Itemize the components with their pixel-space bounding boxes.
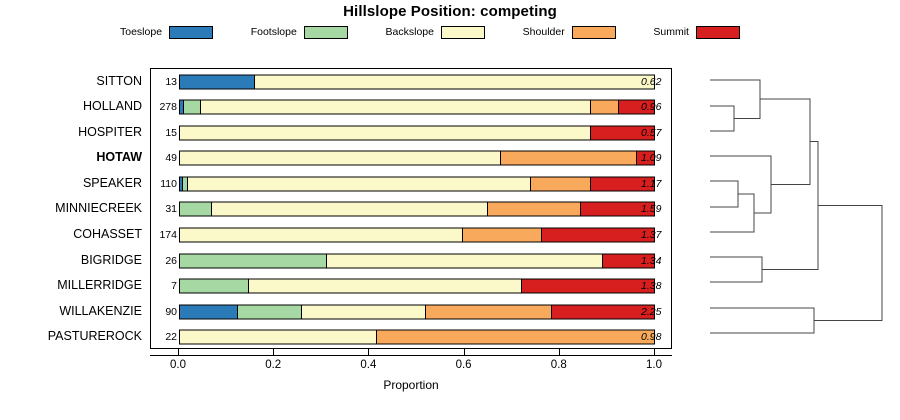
legend-swatch-footslope: [304, 26, 348, 39]
chart-row: 71.38: [151, 273, 671, 299]
stacked-bar-rows: 130.622780.96150.57491.091101.17311.5917…: [151, 69, 671, 348]
stacked-bar[interactable]: [179, 253, 655, 268]
stacked-bar[interactable]: [179, 228, 655, 243]
x-axis-tick: [178, 349, 179, 356]
stacked-bar[interactable]: [179, 304, 655, 319]
stacked-bar[interactable]: [179, 202, 655, 217]
chart-row: 491.09: [151, 146, 671, 172]
stacked-bar[interactable]: [179, 279, 655, 294]
bar-segment-shoulder[interactable]: [591, 101, 619, 114]
row-count-n: 7: [151, 273, 179, 299]
bar-segment-backslope[interactable]: [249, 280, 522, 293]
y-axis-labels: SITTONHOLLANDHOSPITERHOTAWSPEAKERMINNIEC…: [0, 68, 147, 349]
row-diversity-h: 2.25: [637, 299, 671, 325]
legend-item-shoulder[interactable]: Shoulder: [523, 26, 616, 39]
legend-swatch-shoulder: [572, 26, 616, 39]
stacked-bar[interactable]: [179, 330, 655, 345]
legend-item-toeslope[interactable]: Toeslope: [120, 26, 213, 39]
bar-segment-backslope[interactable]: [212, 203, 488, 216]
x-axis-tick-label: 1.0: [646, 359, 662, 371]
legend-item-label: Footslope: [251, 26, 297, 38]
bar-segment-backslope[interactable]: [180, 152, 501, 165]
x-axis-tick: [273, 349, 274, 356]
row-diversity-h: 0.96: [637, 95, 671, 121]
y-axis-label-pasturerock: PASTUREROCK: [48, 323, 142, 349]
x-axis-title: Proportion: [150, 378, 672, 392]
legend-item-label: Toeslope: [120, 26, 162, 38]
page-title: Hillslope Position: competing: [0, 3, 900, 20]
y-axis-label-sitton: SITTON: [96, 68, 142, 94]
row-diversity-h: 1.34: [637, 248, 671, 274]
row-count-n: 174: [151, 222, 179, 248]
bar-segment-backslope[interactable]: [327, 254, 603, 267]
x-axis-line: [150, 355, 672, 356]
x-axis-tick: [559, 349, 560, 356]
stacked-bar[interactable]: [179, 176, 655, 191]
row-count-n: 26: [151, 248, 179, 274]
dendrogram-svg: [690, 68, 895, 349]
row-diversity-h: 1.09: [637, 146, 671, 172]
bar-segment-backslope[interactable]: [180, 331, 377, 344]
bar-segment-backslope[interactable]: [180, 229, 463, 242]
bar-segment-shoulder[interactable]: [463, 229, 541, 242]
row-diversity-h: 1.59: [637, 197, 671, 223]
row-diversity-h: 0.57: [637, 120, 671, 146]
y-axis-label-millerridge: MILLERRIDGE: [57, 272, 142, 298]
y-axis-label-holland: HOLLAND: [83, 94, 142, 120]
row-count-n: 278: [151, 95, 179, 121]
legend-item-label: Backslope: [386, 26, 434, 38]
y-axis-label-minniecreek: MINNIECREEK: [55, 196, 142, 222]
chart-row: 1741.37: [151, 222, 671, 248]
x-axis-tick-label: 0.4: [360, 359, 376, 371]
stacked-bar[interactable]: [179, 125, 655, 140]
y-axis-label-hotaw: HOTAW: [96, 145, 142, 171]
chart-row: 1101.17: [151, 171, 671, 197]
row-diversity-h: 1.17: [637, 171, 671, 197]
legend-swatch-backslope: [441, 26, 485, 39]
x-axis-tick-label: 0.2: [265, 359, 281, 371]
x-axis-tick: [654, 349, 655, 356]
bar-segment-backslope[interactable]: [255, 75, 654, 88]
row-count-n: 110: [151, 171, 179, 197]
legend: ToeslopeFootslopeBackslopeShoulderSummit: [120, 22, 740, 42]
chart-row: 311.59: [151, 197, 671, 223]
chart-row: 220.98: [151, 324, 671, 350]
bar-segment-summit[interactable]: [522, 280, 654, 293]
y-axis-label-cohasset: COHASSET: [73, 221, 142, 247]
bar-segment-footslope[interactable]: [238, 305, 302, 318]
legend-item-summit[interactable]: Summit: [653, 26, 740, 39]
legend-swatch-summit: [696, 26, 740, 39]
bar-segment-footslope[interactable]: [184, 101, 201, 114]
row-count-n: 13: [151, 69, 179, 95]
x-axis-tick-label: 0.0: [170, 359, 186, 371]
row-diversity-h: 0.98: [637, 324, 671, 350]
row-count-n: 31: [151, 197, 179, 223]
bar-segment-footslope[interactable]: [180, 254, 327, 267]
legend-item-label: Summit: [653, 26, 689, 38]
bar-segment-shoulder[interactable]: [501, 152, 638, 165]
row-diversity-h: 1.38: [637, 273, 671, 299]
bar-segment-footslope[interactable]: [180, 203, 212, 216]
plot-stage: Hillslope Position: competing ToeslopeFo…: [0, 0, 900, 420]
chart-row: 130.62: [151, 69, 671, 95]
stacked-bar[interactable]: [179, 100, 655, 115]
bar-segment-shoulder[interactable]: [488, 203, 581, 216]
bar-segment-shoulder[interactable]: [531, 177, 592, 190]
y-axis-label-hospiter: HOSPITER: [78, 119, 142, 145]
row-count-n: 15: [151, 120, 179, 146]
x-axis-tick-label: 0.6: [456, 359, 472, 371]
bar-segment-toeslope[interactable]: [180, 305, 238, 318]
bar-segment-backslope[interactable]: [180, 126, 591, 139]
x-axis-tick: [464, 349, 465, 356]
chart-row: 261.34: [151, 248, 671, 274]
stacked-bar[interactable]: [179, 74, 655, 89]
x-axis-tick-label: 0.8: [551, 359, 567, 371]
bar-segment-backslope[interactable]: [302, 305, 426, 318]
chart-row: 150.57: [151, 120, 671, 146]
legend-item-footslope[interactable]: Footslope: [251, 26, 348, 39]
row-count-n: 90: [151, 299, 179, 325]
legend-item-label: Shoulder: [523, 26, 565, 38]
dendrogram: [690, 68, 895, 349]
legend-item-backslope[interactable]: Backslope: [386, 26, 485, 39]
chart-row: 902.25: [151, 299, 671, 325]
bar-segment-backslope[interactable]: [188, 177, 531, 190]
chart-row: 2780.96: [151, 95, 671, 121]
bar-segment-toeslope[interactable]: [180, 75, 255, 88]
row-count-n: 49: [151, 146, 179, 172]
bar-segment-backslope[interactable]: [201, 101, 591, 114]
row-diversity-h: 1.37: [637, 222, 671, 248]
row-count-n: 22: [151, 324, 179, 350]
stacked-bar[interactable]: [179, 151, 655, 166]
plot-panel: 130.622780.96150.57491.091101.17311.5917…: [150, 68, 672, 349]
legend-swatch-toeslope: [169, 26, 213, 39]
y-axis-label-bigridge: BIGRIDGE: [81, 247, 142, 273]
bar-segment-shoulder[interactable]: [377, 331, 654, 344]
x-axis-tick: [368, 349, 369, 356]
y-axis-label-speaker: SPEAKER: [83, 170, 142, 196]
bar-segment-footslope[interactable]: [180, 280, 249, 293]
y-axis-label-willakenzie: WILLAKENZIE: [59, 298, 142, 324]
row-diversity-h: 0.62: [637, 69, 671, 95]
bar-segment-shoulder[interactable]: [426, 305, 552, 318]
